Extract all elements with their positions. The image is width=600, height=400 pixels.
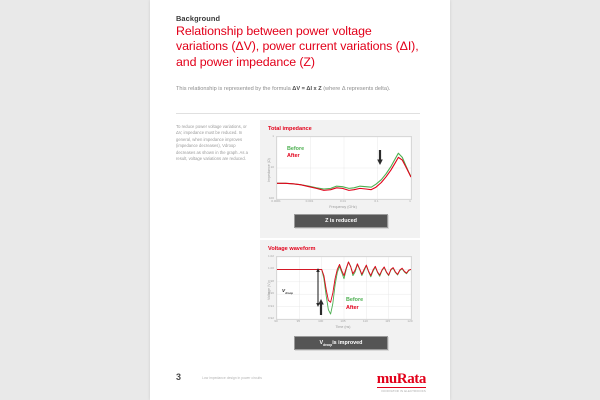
x-tick: 105	[340, 319, 345, 323]
chart-voltage-waveform	[276, 256, 412, 320]
y-tick: 0.94	[262, 304, 274, 308]
logo-wordmark: muRata	[377, 372, 426, 388]
intro-paragraph: This relationship is represented by the …	[176, 85, 408, 93]
x-tick: 0.01	[340, 199, 346, 203]
logo-tagline: Innovator in Electronics	[368, 390, 426, 393]
murata-logo: muRata Innovator in Electronics	[368, 370, 426, 393]
vdroop-annotation: Vdroop	[282, 288, 293, 295]
x-tick: 0.001	[306, 199, 314, 203]
x-tick: 1	[409, 199, 411, 203]
y-tick: 1.02	[262, 254, 274, 258]
y-tick: 100	[262, 196, 274, 200]
y-axis-label-voltage: Voltage (V)	[267, 282, 271, 300]
body-paragraph: To reduce power voltage variations, or Δ…	[176, 124, 254, 162]
panel-total-impedance: Total impedance 0.00010.0010.010.11 1101…	[260, 120, 420, 238]
callout-v-suffix: is improved	[332, 340, 362, 346]
horizontal-divider	[176, 113, 420, 114]
intro-suffix: (where Δ represents delta).	[322, 86, 391, 92]
x-tick: 115	[385, 319, 390, 323]
x-axis-label-impedance: Frequency (GHz)	[276, 205, 410, 209]
section-eyebrow: Background	[176, 14, 220, 23]
vdroop-subscript: droop	[285, 291, 293, 295]
callout-vdroop-improved: Vdroop is improved	[294, 336, 388, 350]
x-tick: 0.1	[374, 199, 378, 203]
legend-after-voltage: After	[346, 305, 359, 312]
x-tick: 100	[318, 319, 323, 323]
intro-prefix: This relationship is represented by the …	[176, 86, 292, 92]
x-tick: 110	[363, 319, 368, 323]
y-axis-label-impedance: Impedance (Ω)	[267, 158, 271, 182]
legend-before-voltage: Before	[346, 297, 363, 304]
document-page: Background Relationship between power vo…	[150, 0, 450, 400]
page-content: Background Relationship between power vo…	[176, 0, 426, 400]
x-tick: 95	[297, 319, 300, 323]
y-tick: 1	[262, 134, 274, 138]
callout-v-subscript: droop	[323, 343, 332, 347]
panel-voltage-waveform: Voltage waveform	[260, 240, 420, 360]
page-number: 3	[176, 372, 181, 382]
callout-z-is-reduced: Z is reduced	[294, 214, 388, 228]
panel-title-voltage: Voltage waveform	[268, 246, 315, 252]
x-tick: 90	[274, 319, 277, 323]
y-tick: 1.00	[262, 266, 274, 270]
page-title: Relationship between power voltage varia…	[176, 24, 420, 70]
legend-after-impedance: After	[287, 153, 300, 160]
footer-note: Low impedance design in power circuits	[202, 376, 332, 381]
intro-formula: ΔV = ΔI x Z	[292, 86, 321, 92]
x-axis-label-voltage: Time (ns)	[276, 325, 410, 329]
y-tick: 0.92	[262, 316, 274, 320]
x-tick: 120	[407, 319, 412, 323]
legend-before-impedance: Before	[287, 146, 304, 153]
panel-title-impedance: Total impedance	[268, 126, 312, 132]
